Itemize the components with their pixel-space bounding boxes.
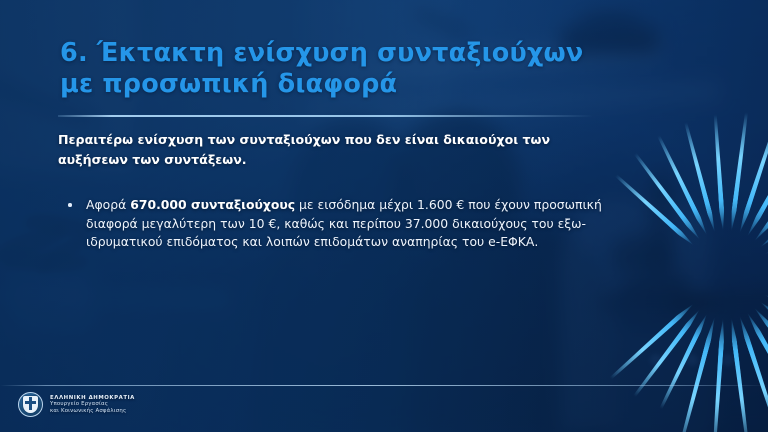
page-title-line1: 6. Έκτακτη ενίσχυση συνταξιούχων	[60, 38, 584, 68]
bullet-list: Αφορά 670.000 συνταξιούχους με εισόδημα …	[58, 196, 618, 252]
page-title: 6. Έκτακτη ενίσχυση συνταξιούχων με προσ…	[60, 38, 590, 100]
list-item: Αφορά 670.000 συνταξιούχους με εισόδημα …	[58, 196, 618, 252]
greek-republic-emblem-icon	[18, 392, 43, 417]
footer-org-text: ΕΛΛΗΝΙΚΗ ΔΗΜΟΚΡΑΤΙΑ Υπουργείο Εργασίας κ…	[50, 395, 135, 415]
title-divider	[58, 115, 593, 117]
page-title-line2: με προσωπική διαφορά	[60, 69, 590, 100]
lede-paragraph: Περαιτέρω ενίσχυση των συνταξιούχων που …	[58, 130, 583, 169]
footer: ΕΛΛΗΝΙΚΗ ΔΗΜΟΚΡΑΤΙΑ Υπουργείο Εργασίας κ…	[18, 392, 135, 417]
footer-org-line2: Υπουργείο Εργασίας	[50, 401, 135, 408]
footer-divider	[0, 385, 768, 386]
bullet-dot-icon	[68, 203, 72, 207]
list-item-text: Αφορά 670.000 συνταξιούχους με εισόδημα …	[86, 196, 618, 252]
presentation-slide: 6. Έκτακτη ενίσχυση συνταξιούχων με προσ…	[0, 0, 768, 432]
footer-org-line3: και Κοινωνικής Ασφάλισης	[50, 408, 135, 415]
